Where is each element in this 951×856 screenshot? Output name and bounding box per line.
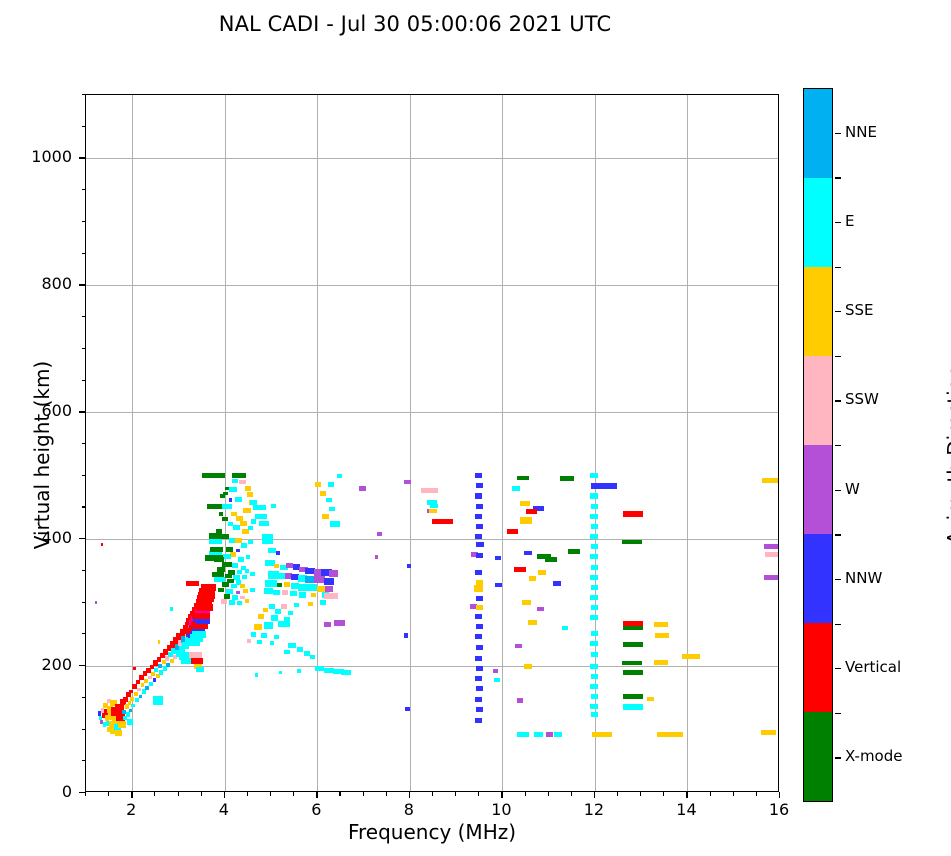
echo-mark	[591, 694, 598, 699]
echo-mark	[429, 509, 436, 513]
x-tick-minor	[154, 792, 155, 796]
echo-mark	[590, 641, 597, 646]
echo-mark	[591, 544, 598, 549]
x-tick-label: 6	[296, 800, 336, 819]
echo-mark	[127, 719, 133, 725]
echo-mark	[764, 544, 778, 549]
echo-mark	[158, 640, 161, 643]
echo-mark	[229, 600, 235, 604]
x-tick-label: 2	[111, 800, 151, 819]
echo-mark	[297, 647, 303, 652]
echo-mark	[259, 521, 269, 526]
echo-mark	[476, 580, 483, 584]
x-tick-minor	[548, 792, 549, 796]
echo-mark	[239, 480, 245, 484]
echo-mark	[170, 659, 174, 663]
echo-mark	[475, 570, 482, 575]
echo-mark	[568, 549, 580, 554]
echo-mark	[310, 655, 316, 659]
x-tick-label: 12	[574, 800, 614, 819]
y-tick-minor	[82, 697, 86, 698]
y-tick	[79, 157, 85, 158]
echo-mark	[507, 529, 517, 534]
echo-mark	[299, 592, 306, 598]
echo-mark	[476, 524, 483, 529]
echo-mark	[324, 578, 334, 585]
echo-mark	[591, 712, 598, 717]
echo-mark	[337, 474, 342, 478]
echo-mark	[148, 676, 152, 680]
x-tick-label: 8	[389, 800, 429, 819]
echo-mark	[404, 633, 409, 637]
echo-mark	[163, 666, 167, 670]
echo-mark	[315, 482, 321, 486]
echo-mark	[514, 567, 525, 572]
colorbar	[803, 88, 833, 802]
echo-mark	[657, 732, 682, 737]
echo-mark	[476, 624, 483, 629]
colorbar-tick	[835, 311, 841, 312]
x-tick-minor	[663, 792, 664, 796]
gridline-horizontal	[86, 666, 778, 667]
echo-mark	[255, 673, 258, 676]
colorbar-boundary-tick	[835, 624, 841, 625]
echo-mark	[591, 483, 616, 489]
colorbar-boundary-tick	[835, 713, 841, 714]
echo-mark	[251, 632, 257, 636]
echo-mark	[493, 669, 499, 673]
echo-mark	[476, 542, 483, 547]
echo-mark	[232, 479, 238, 483]
gridline-vertical	[317, 95, 318, 791]
colorbar-boundary-tick	[835, 534, 841, 535]
echo-mark	[261, 633, 267, 638]
echo-mark	[153, 696, 163, 705]
x-axis-label: Frequency (MHz)	[85, 820, 779, 844]
echo-mark	[262, 534, 273, 544]
echo-mark	[226, 547, 232, 552]
echo-mark	[222, 517, 228, 521]
colorbar-label-x-mode: X-mode	[845, 747, 902, 765]
echo-mark	[524, 551, 531, 555]
colorbar-boundary-tick	[835, 267, 841, 268]
echo-mark	[282, 590, 288, 594]
colorbar-label-e: E	[845, 212, 854, 230]
echo-mark	[341, 670, 350, 675]
echo-mark	[546, 732, 552, 736]
echo-mark	[475, 718, 482, 723]
echo-mark	[196, 604, 213, 611]
echo-mark	[223, 492, 228, 496]
echo-mark	[279, 671, 282, 674]
echo-mark	[221, 599, 227, 603]
y-tick-minor	[82, 316, 86, 317]
echo-mark	[251, 519, 257, 524]
echo-mark	[538, 570, 546, 575]
echo-mark	[253, 505, 265, 510]
echo-mark	[322, 514, 328, 518]
echo-mark	[328, 482, 334, 486]
echo-mark	[430, 504, 437, 508]
echo-mark	[562, 626, 568, 630]
x-tick-minor	[386, 792, 387, 796]
echo-mark	[210, 547, 224, 552]
echo-mark	[126, 712, 130, 716]
echo-mark	[590, 664, 597, 669]
colorbar-label-ssw: SSW	[845, 390, 879, 408]
echo-mark	[229, 487, 237, 492]
echo-mark	[231, 584, 237, 588]
echo-mark	[377, 532, 382, 536]
echo-mark	[529, 576, 535, 580]
echo-mark	[275, 609, 281, 614]
gridline-vertical	[225, 95, 226, 791]
echo-mark	[118, 721, 125, 727]
echo-mark	[250, 500, 256, 504]
x-tick	[316, 792, 317, 798]
echo-mark	[647, 697, 653, 701]
echo-mark	[233, 575, 239, 580]
echo-mark	[495, 583, 501, 587]
echo-mark	[475, 473, 482, 478]
echo-mark	[246, 555, 251, 559]
x-tick-minor	[85, 792, 86, 796]
echo-mark	[623, 694, 643, 700]
echo-mark	[324, 622, 330, 627]
echo-mark	[218, 588, 224, 592]
echo-mark	[254, 624, 261, 630]
echo-mark	[294, 603, 300, 607]
x-tick	[131, 792, 132, 798]
y-tick-minor	[82, 94, 86, 95]
echo-mark	[520, 517, 532, 524]
echo-mark	[590, 493, 597, 498]
y-tick-minor	[82, 380, 86, 381]
y-tick	[79, 284, 85, 285]
colorbar-segment-nne	[804, 89, 832, 178]
x-tick-minor	[432, 792, 433, 796]
echo-mark	[228, 522, 234, 526]
echo-mark	[115, 730, 121, 736]
echo-mark	[315, 666, 323, 671]
echo-mark	[186, 581, 199, 587]
echo-mark	[475, 676, 482, 681]
x-tick	[409, 792, 410, 798]
echo-mark	[159, 670, 163, 674]
colorbar-segment-w	[804, 445, 832, 534]
echo-mark	[591, 631, 598, 636]
echo-mark	[524, 664, 531, 669]
colorbar-label: Azimuth Direction	[943, 305, 951, 605]
y-tick-label: 200	[0, 655, 72, 674]
y-tick-minor	[82, 443, 86, 444]
echo-mark	[475, 493, 482, 498]
echo-mark	[263, 608, 269, 612]
echo-mark	[235, 497, 241, 502]
echo-mark	[247, 639, 252, 643]
echo-mark	[622, 661, 641, 665]
echo-mark	[225, 487, 230, 491]
colorbar-segment-vertical	[804, 623, 832, 712]
echo-mark	[222, 504, 232, 509]
y-axis-label: Virtual height (km)	[30, 305, 54, 605]
echo-mark	[476, 596, 483, 601]
echo-mark	[534, 732, 543, 737]
echo-mark	[654, 660, 668, 665]
echo-mark	[255, 514, 267, 519]
gridline-horizontal	[86, 158, 778, 159]
echo-mark	[520, 501, 530, 506]
y-tick-minor	[82, 570, 86, 571]
plot-canvas	[86, 95, 778, 791]
echo-mark	[236, 549, 240, 553]
x-tick-minor	[108, 792, 109, 796]
echo-mark	[517, 698, 523, 702]
echo-mark	[226, 589, 232, 594]
echo-mark	[245, 599, 250, 603]
echo-mark	[136, 680, 140, 684]
echo-mark	[590, 575, 597, 580]
echo-mark	[329, 507, 335, 511]
x-tick-minor	[363, 792, 364, 796]
echo-mark	[329, 570, 337, 576]
echo-mark	[209, 539, 223, 544]
echo-mark	[475, 514, 482, 519]
plot-area	[85, 94, 779, 792]
x-tick	[594, 792, 595, 798]
echo-mark	[495, 556, 501, 560]
gridline-vertical	[687, 95, 688, 791]
y-tick-minor	[82, 348, 86, 349]
echo-mark	[326, 498, 332, 502]
x-tick-label: 16	[759, 800, 799, 819]
echo-mark	[142, 689, 146, 693]
echo-mark	[278, 621, 290, 627]
echo-mark	[229, 538, 235, 542]
echo-mark	[623, 704, 643, 710]
echo-mark	[130, 697, 134, 701]
echo-mark	[247, 492, 253, 497]
echo-mark	[591, 652, 598, 657]
echo-mark	[764, 575, 778, 580]
x-tick-minor	[339, 792, 340, 796]
echo-mark	[517, 476, 529, 480]
echo-mark	[101, 543, 103, 546]
gridline-horizontal	[86, 539, 778, 540]
echo-mark	[232, 563, 238, 568]
y-tick-label: 800	[0, 274, 72, 293]
colorbar-boundary-tick	[835, 177, 841, 178]
x-tick-minor	[640, 792, 641, 796]
echo-mark	[308, 602, 314, 606]
echo-mark	[232, 595, 238, 599]
echo-mark	[245, 569, 250, 573]
echo-mark	[196, 619, 211, 624]
x-tick-minor	[270, 792, 271, 796]
echo-mark	[590, 473, 597, 478]
echo-mark	[476, 666, 483, 671]
echo-mark	[334, 620, 344, 626]
echo-mark	[359, 486, 365, 490]
echo-mark	[277, 583, 283, 587]
echo-mark	[243, 589, 248, 593]
colorbar-tick	[835, 579, 841, 580]
echo-mark	[517, 732, 529, 737]
colorbar-segment-x-mode	[804, 712, 832, 801]
echo-mark	[405, 707, 410, 711]
echo-mark	[237, 601, 242, 605]
x-tick-label: 14	[666, 800, 706, 819]
echo-mark	[682, 654, 700, 659]
echo-mark	[144, 679, 148, 683]
echo-mark	[281, 604, 287, 608]
colorbar-tick	[835, 668, 841, 669]
gridline-vertical	[410, 95, 411, 791]
echo-mark	[196, 667, 204, 672]
echo-mark	[623, 670, 643, 676]
echo-mark	[474, 585, 483, 592]
colorbar-segment-sse	[804, 267, 832, 356]
echo-mark	[311, 593, 317, 597]
echo-mark	[233, 525, 239, 530]
echo-mark	[761, 730, 777, 735]
y-tick-minor	[82, 602, 86, 603]
echo-mark	[229, 498, 233, 502]
colorbar-segment-e	[804, 178, 832, 267]
echo-mark	[476, 504, 483, 509]
echo-mark	[432, 519, 453, 525]
echo-mark	[590, 554, 597, 559]
y-tick-minor	[82, 633, 86, 634]
echo-mark	[222, 534, 228, 538]
x-tick-minor	[571, 792, 572, 796]
echo-mark	[590, 684, 597, 689]
echo-mark	[591, 605, 598, 610]
x-tick-minor	[478, 792, 479, 796]
echo-mark	[622, 540, 641, 544]
echo-mark	[288, 643, 295, 648]
echo-mark	[265, 580, 277, 588]
echo-mark	[297, 669, 302, 673]
gridline-vertical	[502, 95, 503, 791]
echo-mark	[654, 622, 668, 627]
echo-mark	[476, 553, 483, 557]
echo-mark	[134, 692, 138, 696]
echo-mark	[230, 552, 236, 556]
x-tick-minor	[201, 792, 202, 796]
echo-mark	[407, 564, 412, 568]
echo-mark	[181, 658, 190, 664]
echo-mark	[135, 698, 139, 702]
echo-mark	[591, 524, 598, 529]
echo-mark	[284, 582, 290, 587]
echo-mark	[545, 557, 557, 562]
colorbar-label-sse: SSE	[845, 301, 874, 319]
echo-mark	[248, 540, 253, 544]
echo-mark	[257, 640, 263, 644]
x-tick-minor	[247, 792, 248, 796]
echo-mark	[129, 709, 133, 713]
echo-mark	[512, 486, 520, 490]
colorbar-boundary-tick	[835, 356, 841, 357]
echo-mark	[137, 688, 141, 692]
echo-mark	[274, 564, 280, 568]
echo-mark	[238, 557, 244, 561]
y-tick-minor	[82, 506, 86, 507]
echo-mark	[245, 486, 251, 491]
x-tick-label: 10	[481, 800, 521, 819]
echo-mark	[276, 551, 280, 555]
echo-mark	[522, 600, 530, 605]
echo-mark	[515, 644, 522, 648]
echo-mark	[201, 584, 216, 590]
echo-mark	[320, 491, 326, 495]
page-title: NAL CADI - Jul 30 05:00:06 2021 UTC	[0, 12, 830, 36]
echo-mark	[209, 533, 223, 539]
echo-mark	[243, 508, 250, 514]
echo-mark	[475, 614, 482, 619]
echo-mark	[141, 683, 145, 687]
echo-mark	[258, 614, 264, 620]
x-tick-minor	[710, 792, 711, 796]
echo-mark	[207, 504, 223, 509]
gridline-horizontal	[86, 285, 778, 286]
echo-mark	[216, 529, 222, 533]
echo-mark	[271, 504, 277, 508]
echo-mark	[476, 605, 483, 610]
echo-mark	[404, 480, 410, 484]
x-tick-minor	[455, 792, 456, 796]
colorbar-segment-nnw	[804, 534, 832, 623]
echo-mark	[232, 473, 246, 478]
y-tick-label: 1000	[0, 147, 72, 166]
echo-mark	[223, 554, 230, 559]
echo-mark	[325, 586, 333, 592]
echo-mark	[590, 514, 597, 519]
echo-mark	[476, 483, 483, 488]
echo-mark	[765, 552, 778, 557]
x-tick	[501, 792, 502, 798]
echo-mark	[129, 690, 133, 694]
echo-mark	[202, 473, 225, 478]
echo-mark	[153, 678, 157, 682]
echo-mark	[475, 634, 482, 639]
x-tick-label: 4	[204, 800, 244, 819]
echo-mark	[250, 572, 255, 576]
echo-mark	[149, 682, 153, 686]
gridline-horizontal	[86, 412, 778, 413]
echo-mark	[290, 591, 296, 596]
echo-mark	[526, 509, 537, 514]
x-tick-minor	[617, 792, 618, 796]
echo-mark	[553, 581, 560, 585]
echo-mark	[192, 631, 206, 639]
echo-mark	[240, 584, 245, 588]
echo-mark	[268, 548, 275, 554]
echo-mark	[591, 585, 598, 590]
echo-mark	[590, 534, 597, 539]
echo-mark	[375, 555, 379, 559]
x-tick-minor	[525, 792, 526, 796]
echo-mark	[324, 593, 338, 599]
echo-mark	[623, 642, 643, 648]
echo-mark	[475, 697, 482, 702]
echo-mark	[95, 601, 97, 604]
echo-mark	[560, 476, 574, 481]
echo-mark	[240, 521, 246, 526]
echo-mark	[139, 695, 143, 699]
x-tick-minor	[178, 792, 179, 796]
